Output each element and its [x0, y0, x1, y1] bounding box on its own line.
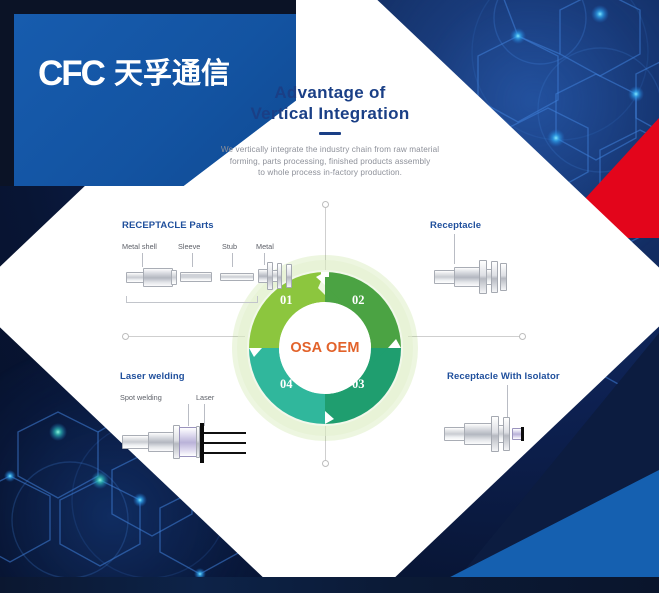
connector-line-right: [408, 336, 523, 337]
donut-segment-number-03: 03: [352, 377, 365, 392]
block-receptacle-parts: RECEPTACLE Parts Metal shell Sleeve Stub…: [122, 220, 322, 310]
donut-center-label: OSA OEM: [232, 340, 418, 356]
connector-dot-bottom: [322, 460, 329, 467]
label-spot-welding: Spot welding: [120, 393, 162, 402]
donut-segment-number-02: 02: [352, 293, 365, 308]
label-metal: Metal: [256, 242, 274, 251]
block-title-receptacle-parts: RECEPTACLE Parts: [122, 220, 322, 231]
block-title-laser-welding: Laser welding: [120, 371, 290, 382]
leader-spot-welding: [188, 404, 189, 426]
page-title: Advantage of Vertical Integration: [180, 82, 480, 124]
paragraph-line-3: to whole process in-factory production.: [258, 168, 402, 177]
leader-metal: [264, 253, 265, 265]
leader-sleeve: [192, 253, 193, 267]
title-underline-rule: [319, 132, 341, 135]
bottom-edge-strip: [0, 577, 659, 593]
label-metal-shell: Metal shell: [122, 242, 157, 251]
heading-block: Advantage of Vertical Integration We ver…: [180, 82, 480, 179]
leader-receptacle: [454, 234, 455, 264]
connector-dot-right: [519, 333, 526, 340]
connector-line-left: [125, 336, 245, 337]
title-line-2: Vertical Integration: [250, 104, 409, 123]
laser-pin-1: [204, 432, 246, 434]
block-laser-welding: Laser welding Spot welding Laser: [120, 371, 290, 461]
title-line-1: Advantage of: [274, 83, 385, 102]
block-title-receptacle: Receptacle: [430, 220, 560, 231]
block-receptacle: Receptacle: [430, 220, 560, 310]
leader-stub: [232, 253, 233, 267]
leader-metal-shell: [142, 253, 143, 267]
leader-laser: [204, 404, 205, 426]
paragraph-line-1: We vertically integrate the industry cha…: [221, 145, 439, 154]
label-stub: Stub: [222, 242, 237, 251]
paragraph-line-2: forming, parts processing, finished prod…: [230, 157, 431, 166]
logo-mark-text: CFC: [38, 56, 104, 91]
leader-isolator: [507, 385, 508, 419]
label-sleeve: Sleeve: [178, 242, 200, 251]
laser-pin-2: [204, 442, 246, 444]
brace-parts-group: [126, 296, 258, 303]
label-laser: Laser: [196, 393, 214, 402]
poster-canvas: CFC 天孚通信 Advantage of Vertical Integrati…: [0, 0, 659, 593]
block-title-receptacle-with-isolator: Receptacle With Isolator: [447, 371, 617, 382]
block-receptacle-with-isolator: Receptacle With Isolator: [447, 371, 617, 461]
intro-paragraph: We vertically integrate the industry cha…: [180, 144, 480, 179]
laser-pin-3: [204, 452, 246, 454]
connector-dot-left: [122, 333, 129, 340]
connector-dot-top: [322, 201, 329, 208]
